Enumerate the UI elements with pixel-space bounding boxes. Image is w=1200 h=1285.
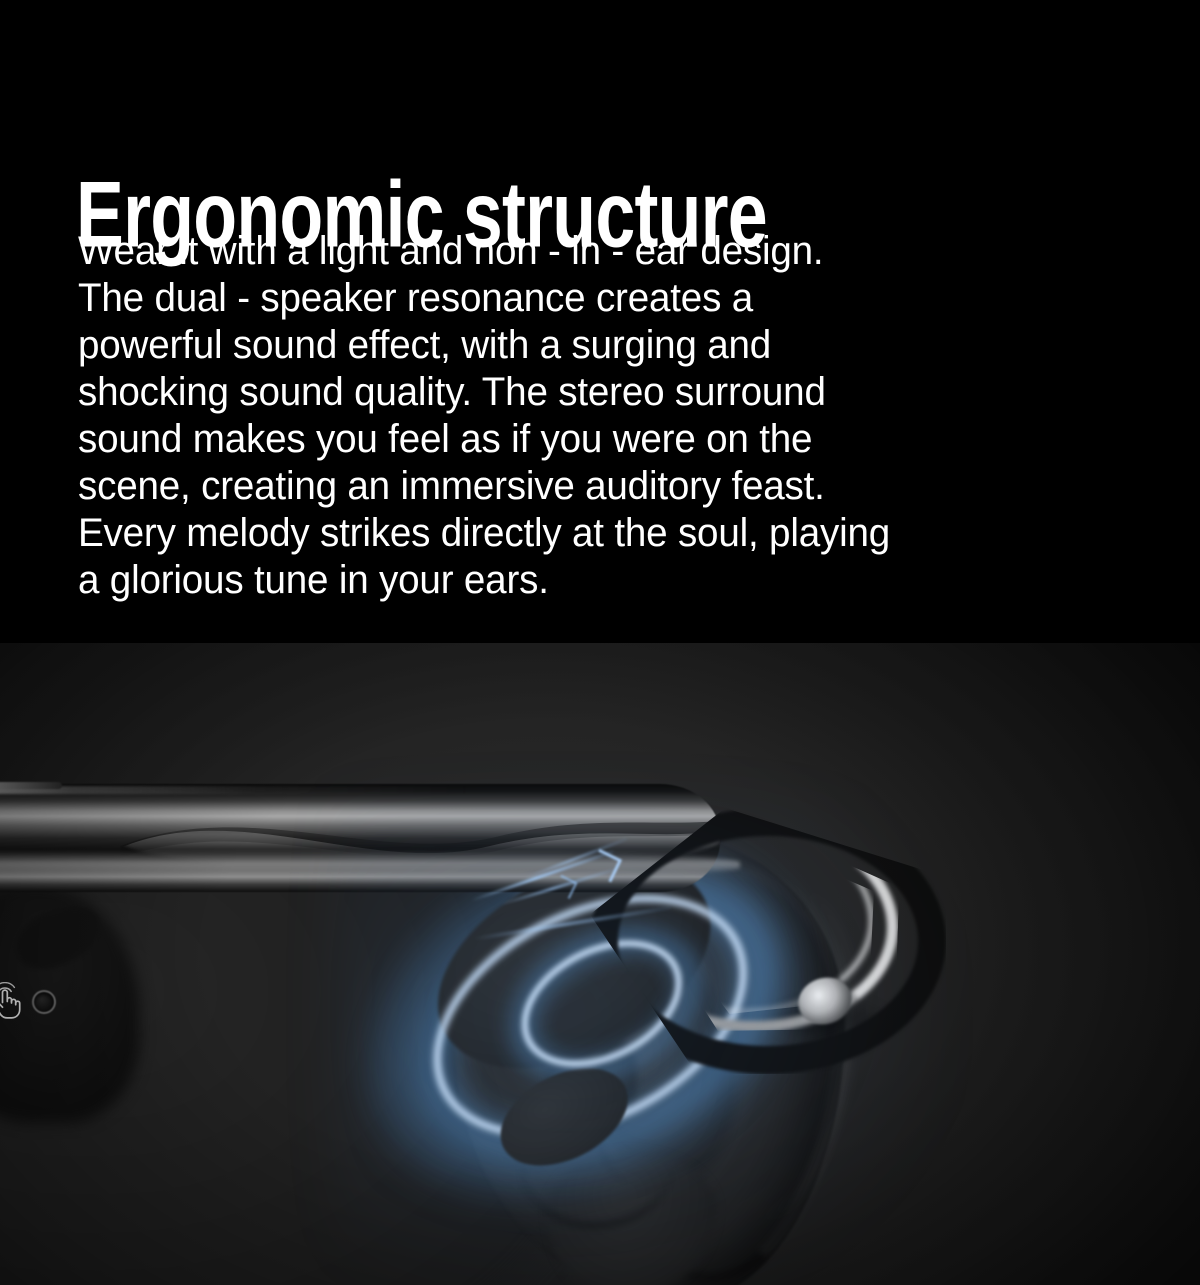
description-line: a glorious tune in your ears. [78, 557, 1033, 604]
touch-icon[interactable] [0, 982, 22, 1020]
temple-notch [0, 782, 62, 789]
description-line: powerful sound effect, with a surging an… [78, 322, 1033, 369]
description-line: sound makes you feel as if you were on t… [78, 416, 1033, 463]
description-line: scene, creating an immersive auditory fe… [78, 463, 1033, 510]
description-paragraph: Wear it with a light and non - in - ear … [78, 228, 1033, 604]
product-detail-page: Ergonomic structure Wear it with a light… [0, 0, 1200, 1285]
description-line: Every melody strikes directly at the sou… [78, 510, 1033, 557]
temple-top-edge [0, 786, 690, 794]
product-photo [0, 643, 1200, 1285]
light-streak [473, 906, 671, 941]
description-line: Wear it with a light and non - in - ear … [78, 228, 1033, 275]
description-line: shocking sound quality. The stereo surro… [78, 369, 1033, 416]
chevron-right-icon [553, 875, 577, 899]
text-section: Ergonomic structure Wear it with a light… [0, 0, 1200, 643]
description-line: The dual - speaker resonance creates a [78, 275, 1033, 322]
microphone-port-icon [32, 990, 56, 1014]
